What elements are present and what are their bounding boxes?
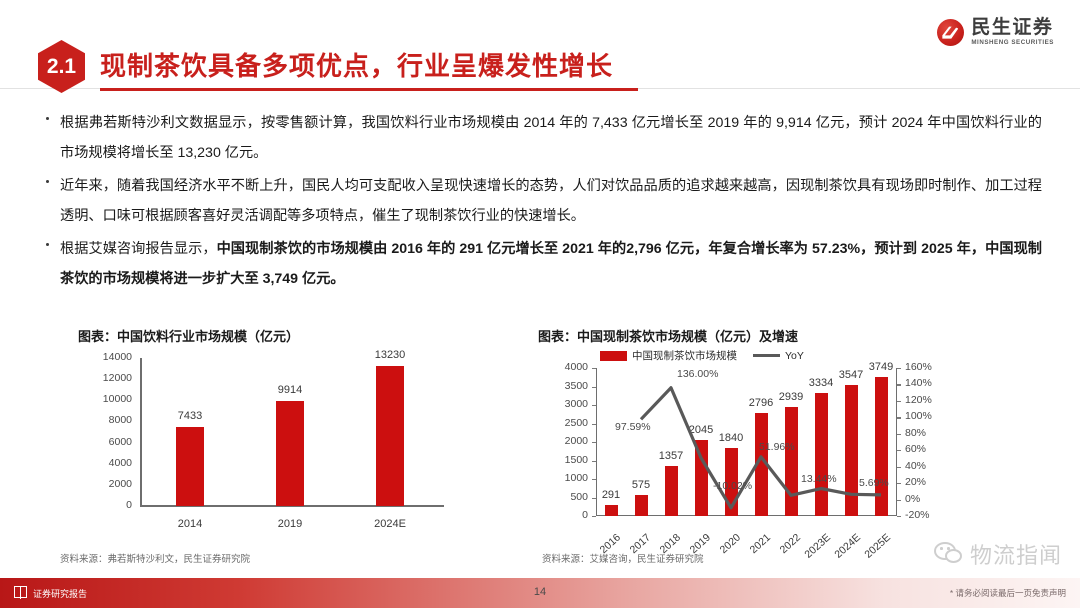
y2-tick-label: -20% [905, 509, 955, 521]
page-number: 14 [0, 586, 1080, 598]
y2-tick-label: 20% [905, 476, 955, 488]
bullet-dot-icon [46, 234, 60, 246]
bullet-text: 近年来，随着我国经济水平不断上升，国民人均可支配收入呈现快速增长的态势，人们对饮… [60, 171, 1042, 231]
x-tick-label: 2020 [707, 532, 743, 566]
y-tick-label: 500 [538, 491, 588, 503]
yoy-line-series [596, 368, 896, 516]
y-tick-label: 4000 [78, 457, 132, 469]
y-tick-label: 0 [538, 509, 588, 521]
y2-tick-label: 40% [905, 460, 955, 472]
bar-2014 [176, 427, 204, 506]
y2-tick-mark [897, 500, 901, 501]
y2-tick-label: 100% [905, 410, 955, 422]
legend-label-line: YoY [785, 350, 804, 362]
y-tick-mark [592, 498, 596, 499]
y2-tick-mark [897, 516, 901, 517]
footer-disclaimer: * 请务必阅读最后一页免责声明 [950, 587, 1066, 599]
yoy-value-label: 51.96% [759, 441, 795, 453]
y-tick-mark [592, 442, 596, 443]
legend-item-bar: 中国现制茶饮市场规模 [600, 348, 737, 363]
x-tick-label: 2019 [260, 518, 320, 530]
bar-value-label: 7433 [160, 410, 220, 422]
y2-tick-mark [897, 417, 901, 418]
x-tick-label: 2024E [360, 518, 420, 530]
y-tick-label: 2000 [538, 435, 588, 447]
y-tick-label: 14000 [78, 351, 132, 363]
x-tick-label: 2024E [827, 532, 863, 566]
legend-swatch-line-icon [753, 354, 780, 358]
yoy-value-label: 5.69% [859, 477, 889, 489]
y-tick-label: 8000 [78, 414, 132, 426]
y-tick-label: 3000 [538, 398, 588, 410]
y-tick-label: 0 [78, 499, 132, 511]
x-tick-label: 2025E [857, 532, 893, 566]
x-tick-label: 2021 [737, 532, 773, 566]
y2-tick-mark [897, 467, 901, 468]
y-tick-label: 2500 [538, 417, 588, 429]
y-tick-mark [592, 479, 596, 480]
y-tick-mark [592, 368, 596, 369]
bar-value-label: 13230 [360, 349, 420, 361]
y2-tick-mark [897, 401, 901, 402]
logo-name-en: MINSHENG SECURITIES [971, 40, 1054, 46]
y-tick-label: 6000 [78, 436, 132, 448]
bullet-dot-icon [46, 108, 60, 120]
page-title: 现制茶饮具备多项优点，行业呈爆发性增长 [100, 46, 613, 83]
y2-tick-label: 160% [905, 361, 955, 373]
bar-2024E [376, 366, 404, 506]
y2-tick-mark [897, 368, 901, 369]
y-tick-label: 4000 [538, 361, 588, 373]
yoy-value-label: 13.44% [801, 473, 837, 485]
bar-2019 [276, 401, 304, 506]
y2-tick-label: 0% [905, 493, 955, 505]
y-tick-mark [592, 461, 596, 462]
x-tick-label: 2022 [767, 532, 803, 566]
minsheng-logo-icon [937, 19, 964, 46]
chart-legend: 中国现制茶饮市场规模 YoY [600, 348, 804, 363]
logo-name-cn: 民生证券 [971, 18, 1054, 37]
bullet-dot-icon [46, 171, 60, 183]
y2-tick-mark [897, 483, 901, 484]
wechat-icon [934, 542, 964, 566]
plot-area: 7433991413230 [140, 358, 440, 506]
source-note-left: 资料来源：弗若斯特沙利文，民生证券研究院 [60, 551, 250, 565]
watermark: 物流指闻 [934, 538, 1062, 570]
bullet-item: 根据艾媒咨询报告显示，中国现制茶饮的市场规模由 2016 年的 291 亿元增长… [46, 234, 1042, 294]
watermark-text: 物流指闻 [970, 538, 1062, 570]
logo-text: 民生证券 MINSHENG SECURITIES [971, 18, 1054, 46]
x-tick-label: 2023E [797, 532, 833, 566]
legend-swatch-bar-icon [600, 351, 627, 361]
body-bullets: 根据弗若斯特沙利文数据显示，按零售额计算，我国饮料行业市场规模由 2014 年的… [46, 108, 1042, 297]
plot-area: 2915751357204518402796293933343547374997… [596, 368, 896, 516]
chart-caption-right: 图表：中国现制茶饮市场规模（亿元）及增速 [538, 326, 798, 345]
chart-beverage-market: 7433991413230 02000400060008000100001200… [78, 352, 468, 542]
y2-tick-mark [897, 384, 901, 385]
y-tick-mark [592, 387, 596, 388]
y-axis-right [896, 368, 897, 516]
y-tick-label: 2000 [78, 478, 132, 490]
legend-label-bar: 中国现制茶饮市场规模 [632, 348, 737, 363]
bullet-prefix: 根据艾媒咨询报告显示， [60, 241, 217, 257]
bar-value-label: 9914 [260, 384, 320, 396]
y-tick-mark [592, 424, 596, 425]
y2-tick-label: 60% [905, 443, 955, 455]
chart-tea-market-yoy: 2915751357204518402796293933343547374997… [538, 362, 958, 552]
title-underline [100, 88, 638, 91]
slide-footer: 证券研究报告 14 * 请务必阅读最后一页免责声明 [0, 578, 1080, 608]
source-note-right: 资料来源：艾媒咨询，民生证券研究院 [542, 551, 704, 565]
yoy-value-label: 136.00% [677, 368, 718, 380]
y-tick-label: 3500 [538, 380, 588, 392]
company-logo: 民生证券 MINSHENG SECURITIES [937, 18, 1054, 46]
y2-tick-label: 140% [905, 377, 955, 389]
y-tick-mark [592, 405, 596, 406]
y2-tick-mark [897, 450, 901, 451]
bullet-item: 根据弗若斯特沙利文数据显示，按零售额计算，我国饮料行业市场规模由 2014 年的… [46, 108, 1042, 168]
chart-caption-left: 图表：中国饮料行业市场规模（亿元） [78, 326, 299, 345]
y-tick-label: 12000 [78, 372, 132, 384]
y2-tick-label: 80% [905, 427, 955, 439]
y-tick-label: 1500 [538, 454, 588, 466]
bullet-text-highlight: 根据艾媒咨询报告显示，中国现制茶饮的市场规模由 2016 年的 291 亿元增长… [60, 234, 1042, 294]
y2-tick-label: 120% [905, 394, 955, 406]
yoy-value-label: -10.02% [713, 480, 752, 492]
bullet-text: 根据弗若斯特沙利文数据显示，按零售额计算，我国饮料行业市场规模由 2014 年的… [60, 108, 1042, 168]
x-tick-label: 2014 [160, 518, 220, 530]
legend-item-line: YoY [753, 350, 804, 362]
yoy-value-label: 97.59% [615, 421, 651, 433]
y-tick-label: 1000 [538, 472, 588, 484]
bullet-item: 近年来，随着我国经济水平不断上升，国民人均可支配收入呈现快速增长的态势，人们对饮… [46, 171, 1042, 231]
y-tick-label: 10000 [78, 393, 132, 405]
y-tick-mark [592, 516, 596, 517]
y2-tick-mark [897, 434, 901, 435]
